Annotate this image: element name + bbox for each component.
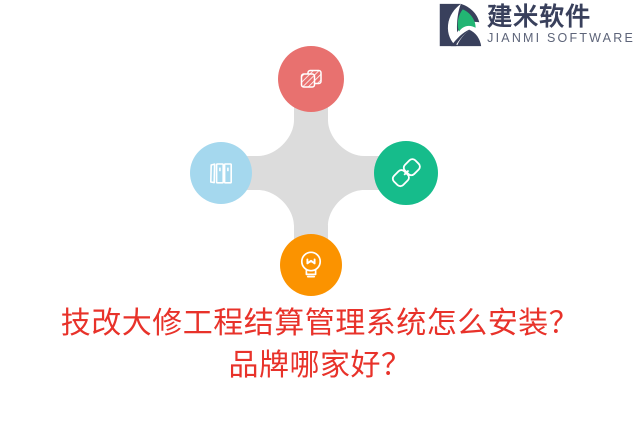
headline-line-2: 品牌哪家好？ bbox=[0, 345, 640, 387]
hero-node-left[interactable] bbox=[190, 142, 252, 204]
leaf-shield-logo-icon bbox=[437, 2, 483, 48]
brand-name-en: JIANMI SOFTWARE bbox=[487, 31, 635, 46]
headline-line-1: 技改大修工程结算管理系统怎么安装？ bbox=[0, 303, 640, 345]
page-headline: 技改大修工程结算管理系统怎么安装？ 品牌哪家好？ bbox=[0, 303, 640, 387]
hero-diagram-svg bbox=[180, 42, 442, 304]
brand-name-cn: 建米软件 bbox=[487, 3, 635, 30]
hero-diagram bbox=[180, 42, 442, 304]
bottom-node-circle[interactable] bbox=[280, 234, 342, 296]
brand-logo: 建米软件 JIANMI SOFTWARE bbox=[437, 2, 635, 50]
hero-node-top[interactable] bbox=[278, 46, 344, 112]
brand-text-block: 建米软件 JIANMI SOFTWARE bbox=[487, 2, 635, 46]
hero-node-right[interactable] bbox=[374, 141, 438, 205]
left-node-circle[interactable] bbox=[190, 142, 252, 204]
hero-node-bottom[interactable] bbox=[280, 234, 342, 296]
page-root: { "brand": { "name_cn": "建米软件", "name_en… bbox=[0, 0, 640, 427]
